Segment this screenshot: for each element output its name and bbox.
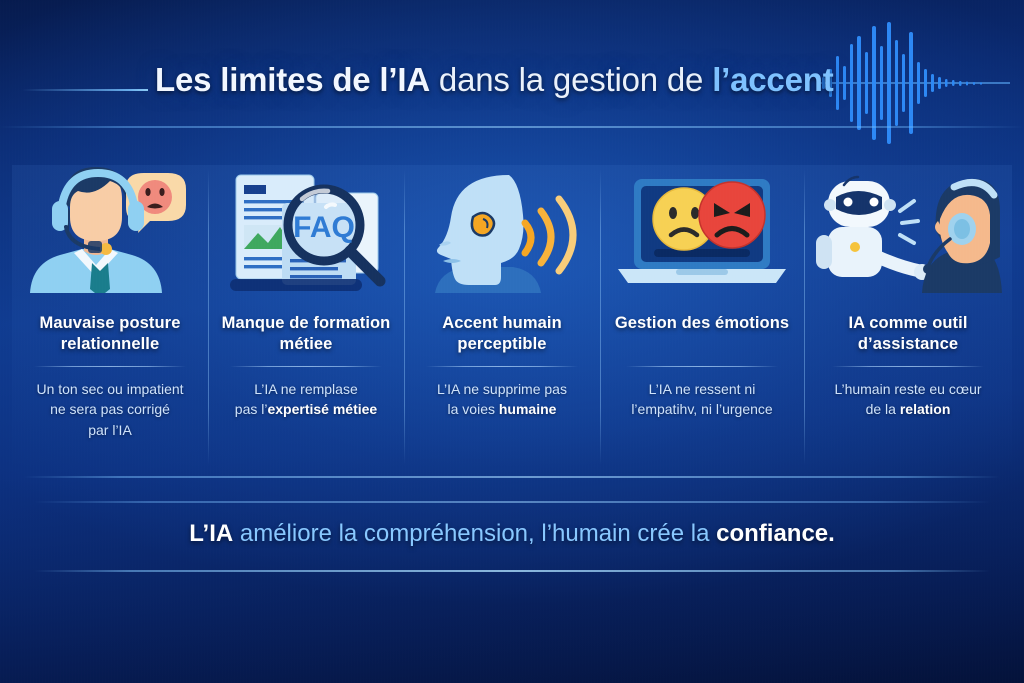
- card-grid: Mauvaise posture relationnelle Un ton se…: [12, 165, 1012, 470]
- footer-divider-bottom: [34, 570, 990, 572]
- card-title: IA comme outil d’assistance: [814, 313, 1002, 357]
- card-divider: [626, 366, 778, 367]
- card-divider: [230, 366, 382, 367]
- card-icon-wrap: [414, 165, 590, 297]
- card-divider: [34, 366, 186, 367]
- card-title: Accent humain perceptible: [414, 313, 590, 357]
- laptop-sad-angry-emoji-icon: [610, 169, 794, 293]
- speaking-head-soundwaves-icon: [417, 165, 587, 293]
- title-leading-rule: [22, 89, 148, 91]
- footer-part-1: L’IA: [189, 520, 233, 547]
- card-title: Manque de formation métiee: [218, 313, 394, 357]
- card-description: L’IA ne supprime pas la voies humaine: [437, 379, 567, 420]
- robot-human-headset-icon: [814, 165, 1002, 293]
- card-gestion-emotions: Gestion des émotions L’IA ne ressent ni …: [600, 165, 804, 470]
- card-manque-formation: FAQ Manque de formation métiee L’IA ne r…: [208, 165, 404, 470]
- header: Les limites de l’IA dans la gestion de l…: [0, 0, 1024, 150]
- card-divider: [832, 366, 984, 367]
- footer-divider-mid: [34, 501, 990, 503]
- card-title: Mauvaise posture relationnelle: [22, 313, 198, 357]
- page-title-part-3: l’accent: [712, 61, 833, 98]
- infographic-poster: Les limites de l’IA dans la gestion de l…: [0, 0, 1024, 683]
- faq-documents-magnifier-icon: FAQ: [220, 165, 392, 293]
- page-title-part-1: Les limites de l’IA: [155, 61, 430, 98]
- card-title: Gestion des émotions: [615, 313, 789, 357]
- card-divider: [426, 366, 578, 367]
- card-description: L’humain reste eu cœur de la relation: [834, 379, 981, 420]
- card-icon-wrap: [610, 165, 794, 297]
- card-description: L’IA ne ressent ni l’empatihv, ni l’urge…: [631, 379, 772, 420]
- card-mauvaise-posture: Mauvaise posture relationnelle Un ton se…: [12, 165, 208, 470]
- page-title-part-2: dans la gestion de: [430, 61, 712, 98]
- card-description: L’IA ne remplase pas l’expertisé métiee: [235, 379, 377, 420]
- footer-part-2: améliore la compréhension, l’humain crée…: [233, 520, 716, 547]
- footer-part-3: confiance.: [716, 520, 835, 547]
- card-icon-wrap: [22, 165, 198, 297]
- headset-agent-sad-bubble-icon: [22, 165, 198, 293]
- footer-tagline: L’IA améliore la compréhension, l’humain…: [0, 520, 1024, 549]
- card-accent-humain: Accent humain perceptible L’IA ne suppri…: [404, 165, 600, 470]
- card-icon-wrap: [814, 165, 1002, 297]
- card-ia-outil-assistance: IA comme outil d’assistance L’humain res…: [804, 165, 1012, 470]
- header-divider: [0, 126, 1024, 128]
- page-title: Les limites de l’IA dans la gestion de l…: [155, 62, 875, 99]
- footer-divider-top: [24, 476, 1000, 478]
- faq-icon-label: FAQ: [293, 211, 355, 244]
- card-description: Un ton sec ou impatient ne sera pas corr…: [36, 379, 183, 440]
- card-icon-wrap: FAQ: [218, 165, 394, 297]
